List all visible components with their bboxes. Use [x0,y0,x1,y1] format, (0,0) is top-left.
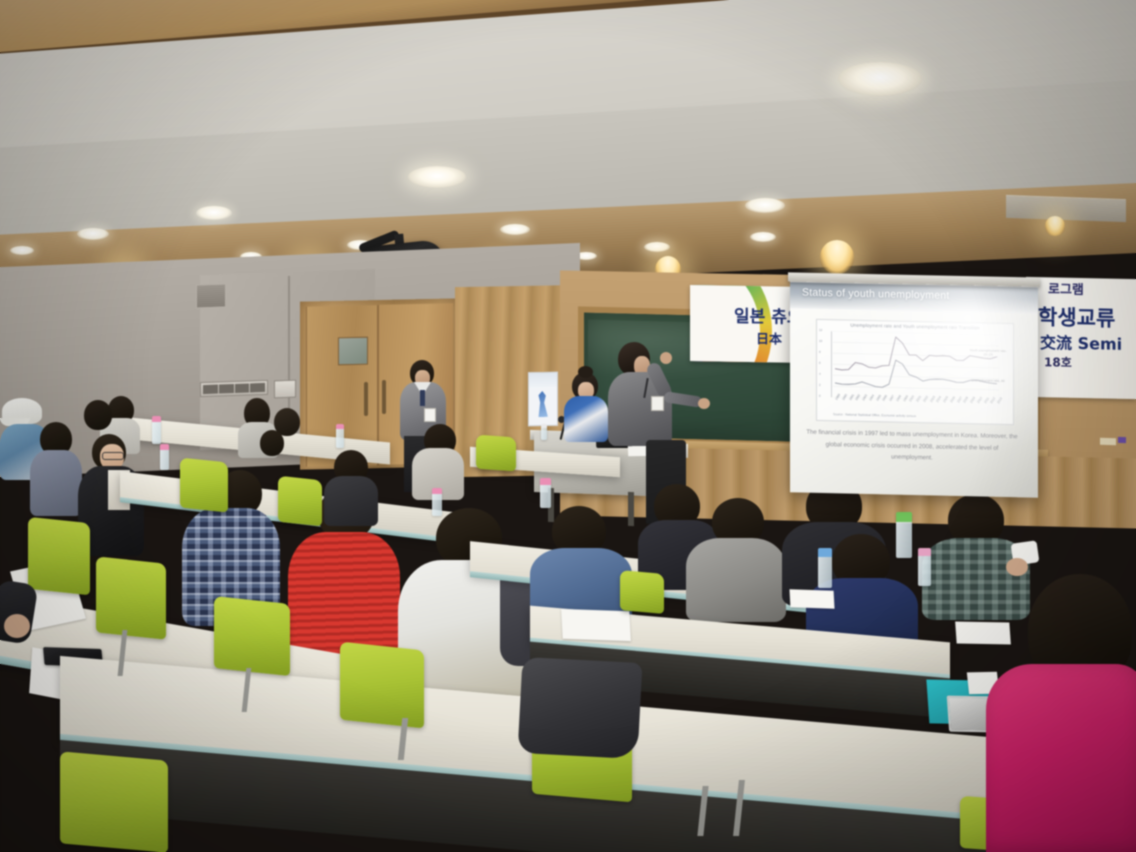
recessed-downlight [644,242,670,252]
wall-wash-spotlight [1045,216,1065,236]
recessed-downlight [500,224,530,235]
staff-tie [420,390,425,406]
chair[interactable] [180,457,228,512]
water-bottle[interactable] [336,424,344,448]
chair[interactable] [60,751,168,852]
lecture-hall-photo: 일본 츄오 日本 로그램 학생교류 交流 Semi 18호 Status of … [0,0,1136,852]
chair[interactable] [28,517,90,596]
wall-poster [528,372,558,427]
water-bottle[interactable] [896,512,912,558]
water-bottle[interactable] [432,488,442,516]
attendee-torso [30,450,82,516]
chair[interactable] [476,435,516,472]
seated-host-torso [564,396,608,442]
slide-chart: Unemployment rate and Youth unemployment… [816,319,1014,425]
chart-lines [833,331,999,401]
water-bottle[interactable] [540,478,551,508]
presenter-lanyard-badge [651,396,664,411]
chair[interactable] [340,642,424,729]
water-bottle[interactable] [541,424,547,440]
banner-left-japanese-text: 日本 [756,328,782,347]
staff-badge [424,408,436,422]
recessed-downlight [196,206,232,220]
attendee-head [260,430,284,456]
chart-y-axis [831,331,832,397]
water-bottle[interactable] [818,548,832,588]
paper-handout[interactable] [789,589,834,609]
door-handle[interactable] [364,382,368,416]
recessed-downlight [745,198,785,213]
door-handle[interactable] [382,380,386,414]
water-bottle[interactable] [152,416,161,444]
light-switch-panel[interactable] [200,380,268,397]
recessed-downlight [77,228,109,240]
banner-right-line2: 학생교류 [1038,301,1115,333]
chalk-piece[interactable] [1118,437,1126,443]
chart-title: Unemployment rate and Youth unemployment… [817,322,1013,331]
banner-right-line3: 交流 Semi [1040,329,1122,355]
draped-jacket [518,657,643,759]
recessed-downlight [10,246,34,255]
chair[interactable] [214,596,290,676]
presenter-hand [660,352,672,364]
chair[interactable] [620,570,664,614]
recessed-downlight [750,232,776,242]
attendee-head [84,400,112,430]
recessed-downlight [838,62,922,96]
water-bottle[interactable] [160,444,169,470]
water-bottle[interactable] [918,548,931,586]
seated-host-hair-bun [578,366,593,378]
chart-source-note: Source : National Statistical Office, Ec… [833,412,916,418]
paper-handout[interactable] [561,609,631,641]
attendee-torso [324,476,378,526]
eyeglasses-icon [102,452,124,460]
attendee-torso [686,538,786,622]
projection-screen: Status of youth unemployment Unemploymen… [790,278,1038,497]
podium-leg [628,492,634,526]
presenter-hand [698,398,710,409]
banner-right-line4: 18호 [1044,353,1072,371]
chart-legend-series-0: Youth unemployment rate, 15~29 [965,348,1011,357]
attendee-hand [4,614,30,638]
light-switch-single[interactable] [274,380,296,399]
chart-plot-area [833,331,999,401]
wall-vent-grille [196,283,226,308]
chart-x-tick: 2013 [997,397,1003,404]
door-window [338,337,368,366]
attendee-torso-pink [986,664,1136,852]
chair[interactable] [96,556,166,639]
paper-handout[interactable] [955,622,1011,645]
slide-caption: The financial crisis in 1997 led to mass… [804,427,1020,466]
recessed-downlight [408,166,466,188]
ceiling-air-vent [1006,195,1126,222]
banner-right-line1: 로그램 [1048,278,1084,298]
seminar-banner-right: 로그램 학생교류 交流 Semi 18호 [1026,277,1136,399]
attendee-hand [1006,558,1028,576]
chalkboard-eraser[interactable] [1100,438,1116,445]
wall-wash-spotlight [820,240,854,274]
chair[interactable] [278,476,322,527]
